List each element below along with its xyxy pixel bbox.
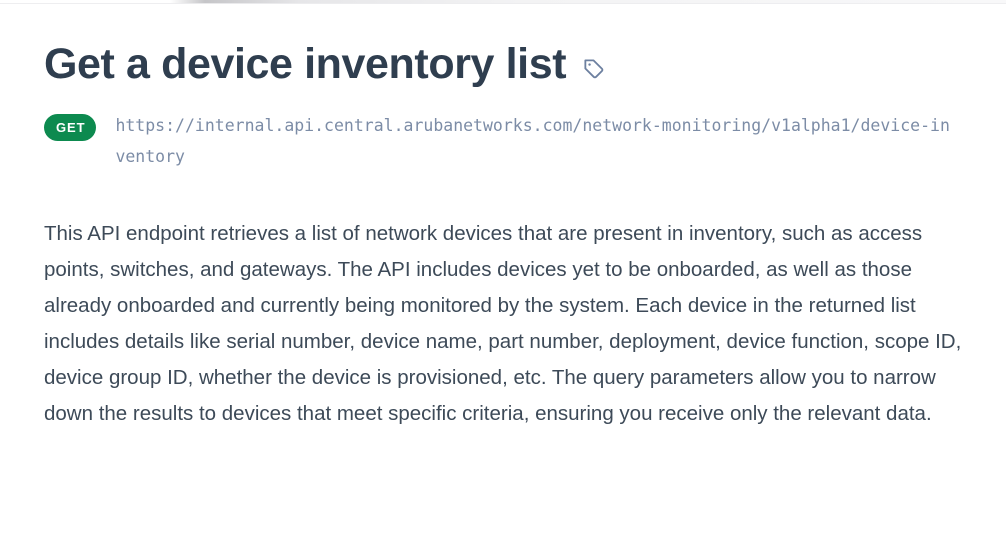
title-row: Get a device inventory list <box>44 0 962 90</box>
tag-icon[interactable] <box>582 57 605 80</box>
endpoint-description: This API endpoint retrieves a list of ne… <box>44 216 969 432</box>
endpoint-row: GET https://internal.api.central.arubane… <box>44 110 962 172</box>
endpoint-url[interactable]: https://internal.api.central.arubanetwor… <box>115 110 955 172</box>
page-title: Get a device inventory list <box>44 38 566 90</box>
api-reference-page: Get a device inventory list GET https://… <box>0 0 1006 432</box>
http-method-badge: GET <box>44 114 96 141</box>
